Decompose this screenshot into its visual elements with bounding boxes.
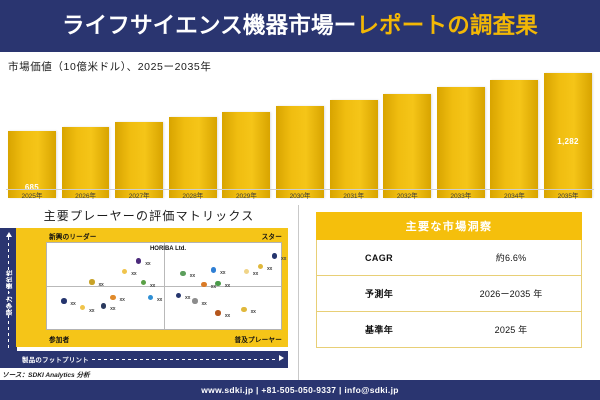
matrix-data-point[interactable] bbox=[61, 298, 67, 304]
bar-cell bbox=[383, 62, 431, 198]
page-header: ライフサイエンス機器市場ーレポートの調査果 bbox=[0, 0, 600, 52]
key-insights-row-value: 約6.6% bbox=[441, 251, 581, 264]
matrix-data-point[interactable] bbox=[110, 295, 116, 301]
bar bbox=[276, 106, 324, 198]
matrix-divider-horizontal bbox=[47, 286, 281, 287]
key-insights-row-label: 予測年 bbox=[317, 287, 441, 300]
matrix-data-point-label: xx bbox=[220, 270, 225, 276]
matrix-frame: 新興のリーダー スター 参加者 普及プレーヤー HORIBA Ltd. xxxx… bbox=[16, 228, 288, 347]
page-title-primary: ライフサイエンス機器市場ー bbox=[62, 13, 356, 38]
matrix-data-point-label: xx bbox=[131, 271, 136, 277]
matrix-data-point-label: xx bbox=[281, 256, 286, 262]
player-matrix-panel: 主要プレーヤーの評価マトリックス 競争力・優位性 製品のフットプリント 新興のリ… bbox=[0, 205, 299, 380]
bar bbox=[169, 117, 217, 198]
key-insights-row: 基準年2025 年 bbox=[316, 312, 582, 348]
matrix-data-point[interactable] bbox=[89, 279, 95, 285]
matrix-data-point[interactable] bbox=[272, 253, 278, 259]
page-title-accent: レポートの調査果 bbox=[356, 13, 538, 38]
quadrant-label-star: スター bbox=[262, 231, 282, 241]
key-insights-panel: 主要な市場洞察 CAGR約6.6%予測年2026ー2035 年基準年2025 年 bbox=[299, 205, 600, 380]
bar-cell bbox=[276, 62, 324, 198]
key-insights-row: CAGR約6.6% bbox=[316, 240, 582, 276]
market-value-chart: 市場価値（10億米ドル）、2025ー2035年 6851,282 bbox=[0, 52, 600, 204]
matrix-data-point-label: xx bbox=[267, 266, 272, 272]
bar bbox=[490, 80, 538, 198]
quadrant-label-emerging-leader: 新興のリーダー bbox=[49, 231, 97, 241]
key-insights-row: 予測年2026ー2035 年 bbox=[316, 276, 582, 312]
key-insights-rows: CAGR約6.6%予測年2026ー2035 年基準年2025 年 bbox=[316, 240, 582, 348]
quadrant-label-pervasive-player: 普及プレーヤー bbox=[234, 334, 282, 344]
matrix-data-point[interactable] bbox=[258, 264, 264, 270]
matrix-data-point[interactable] bbox=[136, 258, 142, 264]
arrow-right-icon bbox=[279, 355, 284, 361]
matrix-data-point[interactable] bbox=[148, 295, 154, 301]
x-axis-tick-label: 2034年 bbox=[490, 190, 538, 204]
matrix-data-point[interactable] bbox=[211, 267, 217, 273]
x-axis-tick-label: 2035年 bbox=[544, 190, 592, 204]
matrix-data-point-label: xx bbox=[70, 301, 75, 307]
matrix-data-point[interactable] bbox=[101, 303, 107, 309]
matrix-data-point[interactable] bbox=[201, 282, 207, 288]
matrix-data-point[interactable] bbox=[241, 307, 247, 313]
bar bbox=[222, 112, 270, 198]
matrix-data-point-label: xx bbox=[251, 309, 256, 315]
matrix-data-point-label: xx bbox=[225, 313, 230, 319]
matrix-y-axis-label: 競争力・優位性 bbox=[5, 250, 14, 336]
report-infographic: ライフサイエンス機器市場ーレポートの調査果 市場価値（10億米ドル）、2025ー… bbox=[0, 0, 600, 400]
key-insights-header: 主要な市場洞察 bbox=[316, 212, 582, 240]
bar-cell bbox=[437, 62, 485, 198]
matrix-data-point[interactable] bbox=[122, 269, 128, 275]
matrix-data-point[interactable] bbox=[180, 271, 186, 277]
matrix-x-axis: 製品のフットプリント bbox=[0, 351, 288, 368]
x-axis-tick-label: 2029年 bbox=[222, 190, 270, 204]
chart-plot-area: 6851,282 bbox=[8, 62, 592, 198]
x-axis-tick-label: 2032年 bbox=[383, 190, 431, 204]
matrix-data-point-label: xx bbox=[89, 308, 94, 314]
page-title: ライフサイエンス機器市場ーレポートの調査果 bbox=[62, 15, 538, 38]
key-insights-row-label: CAGR bbox=[317, 253, 441, 263]
dashed-line-horizontal bbox=[92, 359, 277, 360]
matrix-data-point-label: xx bbox=[120, 297, 125, 303]
matrix-data-point-label: xx bbox=[253, 271, 258, 277]
footer-contact-text: www.sdki.jp | +81-505-050-9337 | info@sd… bbox=[201, 385, 398, 395]
source-note: ソース：SDKI Analytics 分析 bbox=[2, 369, 90, 379]
x-axis-tick-label: 2030年 bbox=[276, 190, 324, 204]
page-footer: www.sdki.jp | +81-505-050-9337 | info@sd… bbox=[0, 380, 600, 400]
key-insights-table: 主要な市場洞察 CAGR約6.6%予測年2026ー2035 年基準年2025 年 bbox=[316, 212, 582, 348]
matrix-title: 主要プレーヤーの評価マトリックス bbox=[0, 207, 298, 224]
matrix-highlight-company-label: HORIBA Ltd. bbox=[150, 246, 186, 252]
matrix-scatter-area: HORIBA Ltd. xxxxxxxxxxxxxxxxxxxxxxxxxxxx… bbox=[46, 242, 282, 330]
bar-cell: 1,282 bbox=[544, 62, 592, 198]
matrix-data-point[interactable] bbox=[244, 269, 250, 275]
x-axis-tick-label: 2033年 bbox=[437, 190, 485, 204]
matrix-data-point-label: xx bbox=[190, 273, 195, 279]
bar bbox=[115, 122, 163, 198]
bar-cell bbox=[222, 62, 270, 198]
x-axis-tick-label: 2031年 bbox=[330, 190, 378, 204]
bar bbox=[437, 87, 485, 198]
bar-cell bbox=[490, 62, 538, 198]
matrix-data-point[interactable] bbox=[192, 298, 198, 304]
quadrant-label-participant: 参加者 bbox=[49, 334, 69, 344]
bar-cell bbox=[62, 62, 110, 198]
bar-cell bbox=[330, 62, 378, 198]
bar bbox=[330, 100, 378, 198]
bar bbox=[383, 94, 431, 198]
matrix-data-point[interactable] bbox=[176, 293, 182, 299]
matrix-data-point-label: xx bbox=[225, 283, 230, 289]
x-axis-tick-label: 2027年 bbox=[115, 190, 163, 204]
matrix-data-point-label: xx bbox=[201, 301, 206, 307]
key-insights-row-label: 基準年 bbox=[317, 323, 441, 336]
matrix-data-point-label: xx bbox=[185, 295, 190, 301]
x-axis-tick-label: 2028年 bbox=[169, 190, 217, 204]
matrix-x-axis-label: 製品のフットプリント bbox=[22, 355, 89, 364]
matrix-data-point[interactable] bbox=[215, 310, 221, 316]
bar-value-label: 1,282 bbox=[544, 137, 592, 146]
matrix-data-point-label: xx bbox=[157, 297, 162, 303]
lower-section: 主要プレーヤーの評価マトリックス 競争力・優位性 製品のフットプリント 新興のリ… bbox=[0, 205, 600, 380]
matrix-data-point-label: xx bbox=[110, 306, 115, 312]
matrix-data-point-label: xx bbox=[145, 261, 150, 267]
matrix-data-point-label: xx bbox=[98, 282, 103, 288]
matrix-data-point[interactable] bbox=[80, 305, 86, 311]
key-insights-row-value: 2025 年 bbox=[441, 323, 581, 336]
key-insights-row-value: 2026ー2035 年 bbox=[441, 287, 581, 300]
bar-cell: 685 bbox=[8, 62, 56, 198]
x-axis-tick-label: 2025年 bbox=[8, 190, 56, 204]
bar-cell bbox=[115, 62, 163, 198]
bar-series: 6851,282 bbox=[8, 62, 592, 198]
chart-x-axis-ticks: 2025年2026年2027年2028年2029年2030年2031年2032年… bbox=[8, 190, 592, 204]
matrix-y-axis: 競争力・優位性 bbox=[0, 228, 17, 368]
bar: 1,282 bbox=[544, 73, 592, 198]
matrix-data-point[interactable] bbox=[141, 280, 147, 286]
bar bbox=[62, 127, 110, 198]
x-axis-tick-label: 2026年 bbox=[62, 190, 110, 204]
matrix-data-point-label: xx bbox=[150, 283, 155, 289]
bar-cell bbox=[169, 62, 217, 198]
